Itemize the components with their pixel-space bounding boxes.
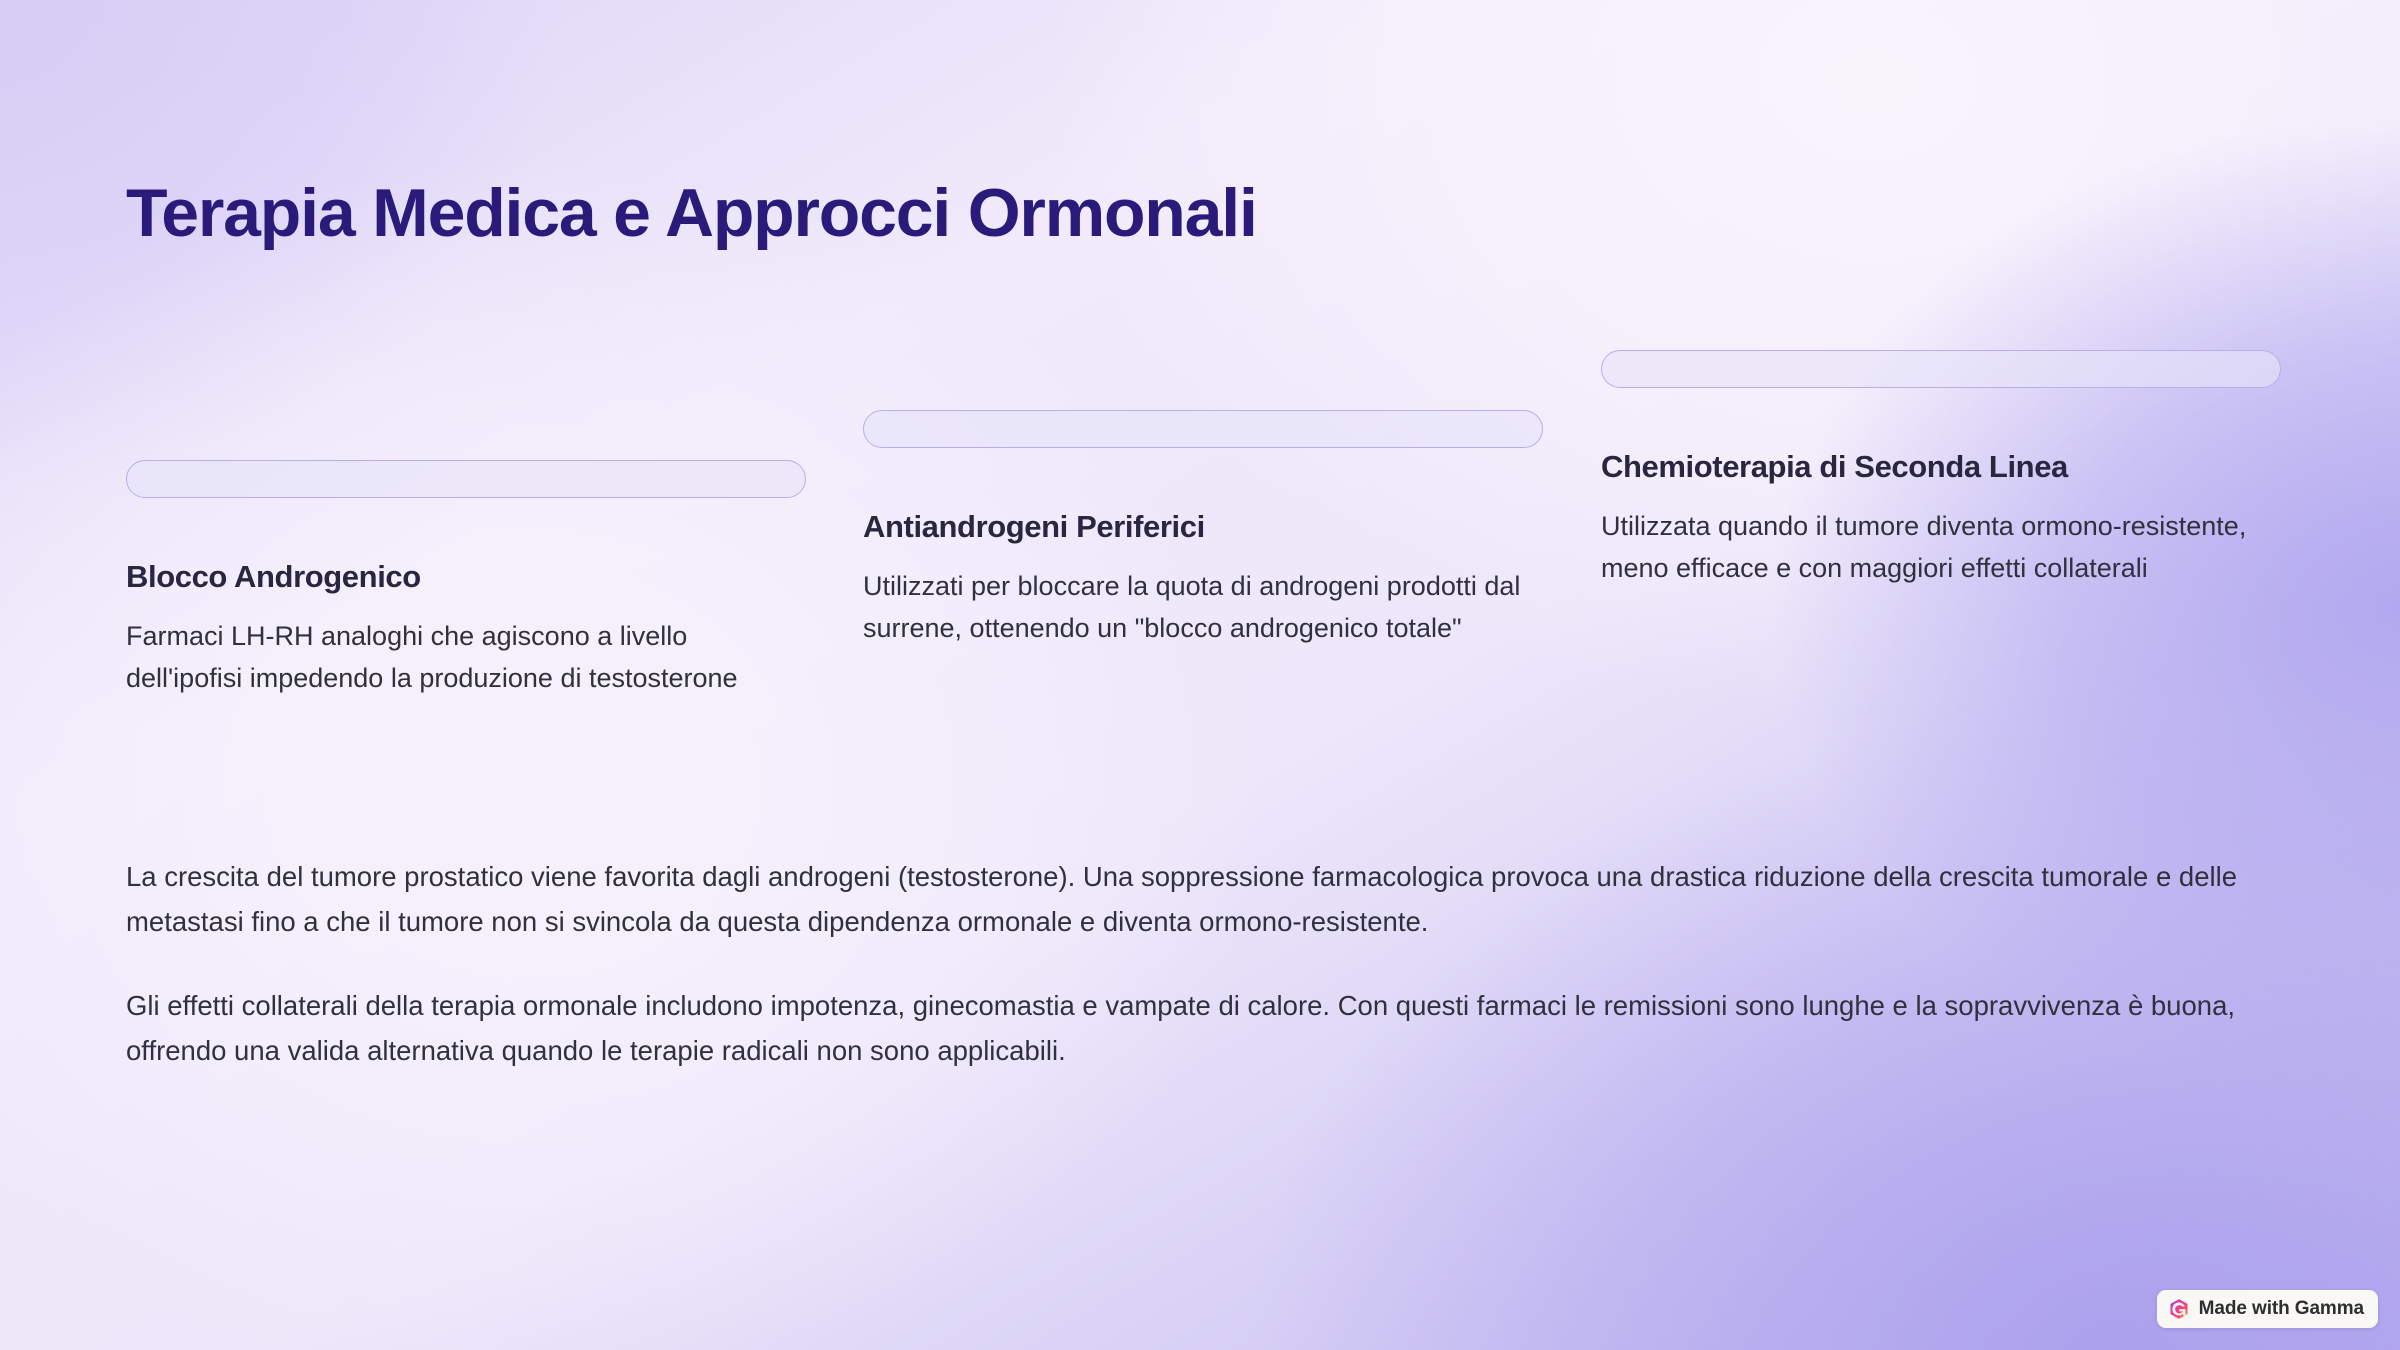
paragraph: La crescita del tumore prostatico viene … xyxy=(126,855,2276,944)
card-image-placeholder[interactable] xyxy=(863,410,1543,448)
card-body-text: Farmaci LH-RH analoghi che agiscono a li… xyxy=(126,615,806,699)
gamma-badge-label: Made with Gamma xyxy=(2199,1298,2364,1320)
gamma-logo-icon xyxy=(2168,1298,2190,1320)
card-body-text: Utilizzati per bloccare la quota di andr… xyxy=(863,565,1543,649)
card-chemioterapia-seconda-linea: Chemioterapia di Seconda Linea Utilizzat… xyxy=(1601,350,2281,589)
card-heading: Antiandrogeni Periferici xyxy=(863,508,1543,545)
paragraph: Gli effetti collaterali della terapia or… xyxy=(126,984,2276,1073)
card-heading: Blocco Androgenico xyxy=(126,558,806,595)
card-body-text: Utilizzata quando il tumore diventa ormo… xyxy=(1601,505,2281,589)
made-with-gamma-badge[interactable]: Made with Gamma xyxy=(2157,1290,2378,1328)
card-image-placeholder[interactable] xyxy=(126,460,806,498)
card-heading: Chemioterapia di Seconda Linea xyxy=(1601,448,2281,485)
card-blocco-androgenico: Blocco Androgenico Farmaci LH-RH analogh… xyxy=(126,460,806,699)
page-title: Terapia Medica e Approcci Ormonali xyxy=(126,175,1257,251)
card-image-placeholder[interactable] xyxy=(1601,350,2281,388)
cards-row: Blocco Androgenico Farmaci LH-RH analogh… xyxy=(126,350,2281,820)
card-antiandrogeni-periferici: Antiandrogeni Periferici Utilizzati per … xyxy=(863,410,1543,649)
body-paragraphs: La crescita del tumore prostatico viene … xyxy=(126,855,2276,1073)
